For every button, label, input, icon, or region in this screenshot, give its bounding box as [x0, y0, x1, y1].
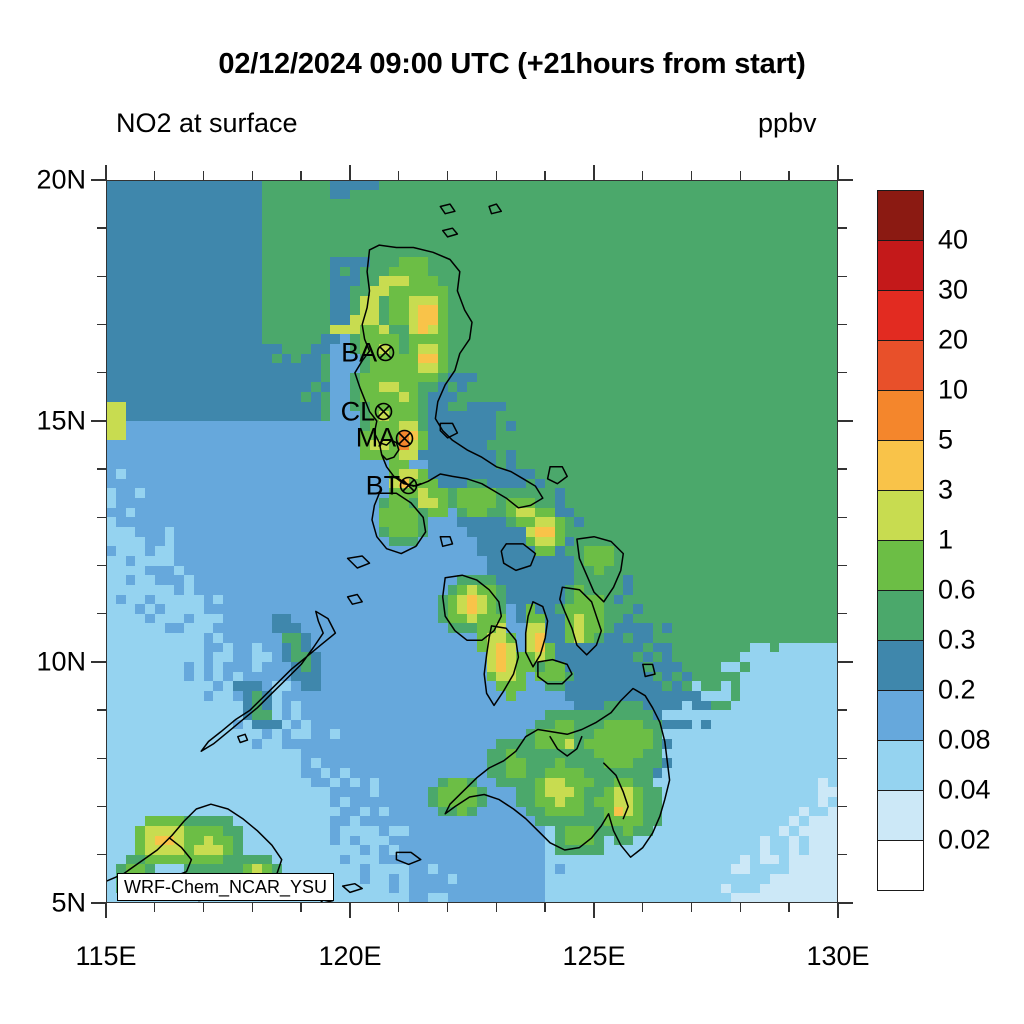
y-tick-right — [838, 324, 847, 325]
station-marker-cl[interactable] — [374, 402, 393, 421]
y-axis-label: 20N — [1, 165, 86, 196]
y-tick — [97, 517, 106, 518]
x-tick-top — [496, 171, 497, 180]
colorbar-tick-label: 0.2 — [938, 675, 976, 706]
colorbar-tick-label: 5 — [938, 425, 953, 456]
x-tick-top — [398, 171, 399, 180]
y-tick — [97, 276, 106, 277]
x-axis-label: 130E — [806, 941, 869, 972]
colorbar-tick-label: 0.3 — [938, 625, 976, 656]
y-tick-right — [838, 758, 847, 759]
x-axis-label: 115E — [75, 941, 136, 972]
x-tick — [837, 903, 839, 918]
colorbar-band[interactable] — [877, 490, 924, 541]
station-marker-ma[interactable] — [395, 429, 414, 448]
x-tick — [300, 903, 301, 912]
x-tick-top — [788, 171, 789, 180]
y-tick — [97, 613, 106, 614]
x-tick — [544, 903, 545, 912]
y-tick — [97, 806, 106, 807]
x-tick-top — [105, 165, 107, 180]
y-tick-right — [838, 227, 847, 228]
colorbar-band[interactable] — [877, 440, 924, 491]
y-tick-right — [838, 565, 847, 566]
map-plot-area[interactable]: BACLMABT — [106, 180, 838, 903]
y-tick-right — [838, 517, 847, 518]
x-tick — [154, 903, 155, 912]
y-tick-right — [838, 613, 847, 614]
x-tick — [398, 903, 399, 912]
x-tick-top — [203, 171, 204, 180]
y-tick-right — [838, 709, 847, 710]
x-tick-top — [154, 171, 155, 180]
colorbar-band[interactable] — [877, 240, 924, 291]
colorbar-tick-label: 3 — [938, 475, 953, 506]
colorbar-tick-label: 0.6 — [938, 575, 976, 606]
model-watermark: WRF-Chem_NCAR_YSU — [117, 873, 334, 901]
coastline-overlay — [106, 180, 838, 903]
y-tick — [91, 179, 106, 181]
colorbar-band[interactable] — [877, 840, 924, 891]
colorbar-band[interactable] — [877, 540, 924, 591]
x-tick — [691, 903, 692, 912]
model-watermark-text: WRF-Chem_NCAR_YSU — [124, 877, 327, 898]
y-axis-label: 5N — [1, 888, 86, 919]
y-tick-right — [838, 276, 847, 277]
y-tick — [91, 661, 106, 663]
x-tick — [788, 903, 789, 912]
colorbar-band[interactable] — [877, 290, 924, 341]
page-title: 02/12/2024 09:00 UTC (+21hours from star… — [0, 48, 1024, 81]
x-tick-top — [642, 171, 643, 180]
y-tick-right — [838, 806, 847, 807]
colorbar-band[interactable] — [877, 790, 924, 841]
colorbar-tick-label: 10 — [938, 375, 968, 406]
x-tick — [642, 903, 643, 912]
x-tick-top — [691, 171, 692, 180]
x-tick — [252, 903, 253, 912]
colorbar-tick-label: 1 — [938, 525, 953, 556]
y-axis-label: 10N — [1, 647, 86, 678]
y-tick-right — [838, 372, 847, 373]
colorbar-tick-label: 0.08 — [938, 725, 991, 756]
colorbar-band[interactable] — [877, 590, 924, 641]
y-tick — [97, 758, 106, 759]
plot-subtitle: NO2 at surface — [116, 108, 298, 139]
y-tick — [97, 709, 106, 710]
x-tick — [349, 903, 351, 918]
y-tick — [91, 902, 106, 904]
colorbar-band[interactable] — [877, 690, 924, 741]
station-marker-bt[interactable] — [399, 476, 418, 495]
y-tick — [97, 468, 106, 469]
station-label-ba: BA — [341, 337, 377, 368]
x-tick — [203, 903, 204, 912]
x-axis-label: 120E — [318, 941, 381, 972]
x-tick — [593, 903, 595, 918]
y-tick-right — [838, 661, 853, 663]
y-tick — [97, 372, 106, 373]
station-marker-ba[interactable] — [376, 343, 395, 362]
x-tick — [496, 903, 497, 912]
x-tick-top — [252, 171, 253, 180]
x-tick-top — [300, 171, 301, 180]
colorbar-tick-label: 0.02 — [938, 825, 991, 856]
y-tick-right — [838, 468, 847, 469]
colorbar-tick-label: 30 — [938, 275, 968, 306]
station-label-ma: MA — [356, 423, 397, 454]
colorbar-tick-label: 20 — [938, 325, 968, 356]
colorbar-band[interactable] — [877, 340, 924, 391]
station-label-bt: BT — [366, 470, 401, 501]
colorbar-band[interactable] — [877, 640, 924, 691]
x-tick-top — [544, 171, 545, 180]
y-tick — [97, 324, 106, 325]
y-tick — [91, 420, 106, 422]
colorbar-band[interactable] — [877, 390, 924, 441]
y-tick — [97, 854, 106, 855]
y-axis-label: 15N — [1, 406, 86, 437]
y-tick-right — [838, 420, 853, 422]
colorbar-band[interactable] — [877, 190, 924, 241]
y-tick — [97, 565, 106, 566]
y-tick-right — [838, 902, 853, 904]
y-tick-right — [838, 179, 853, 181]
x-tick — [447, 903, 448, 912]
x-tick-top — [447, 171, 448, 180]
x-axis-label: 125E — [562, 941, 625, 972]
x-tick — [105, 903, 107, 918]
y-tick-right — [838, 854, 847, 855]
colorbar-tick-label: 40 — [938, 225, 968, 256]
units-label: ppbv — [758, 108, 817, 139]
x-tick — [740, 903, 741, 912]
y-tick — [97, 227, 106, 228]
x-tick-top — [349, 165, 351, 180]
colorbar-band[interactable] — [877, 740, 924, 791]
x-tick-top — [740, 171, 741, 180]
colorbar[interactable] — [877, 190, 924, 890]
x-tick-top — [593, 165, 595, 180]
colorbar-tick-label: 0.04 — [938, 775, 991, 806]
x-tick-top — [837, 165, 839, 180]
